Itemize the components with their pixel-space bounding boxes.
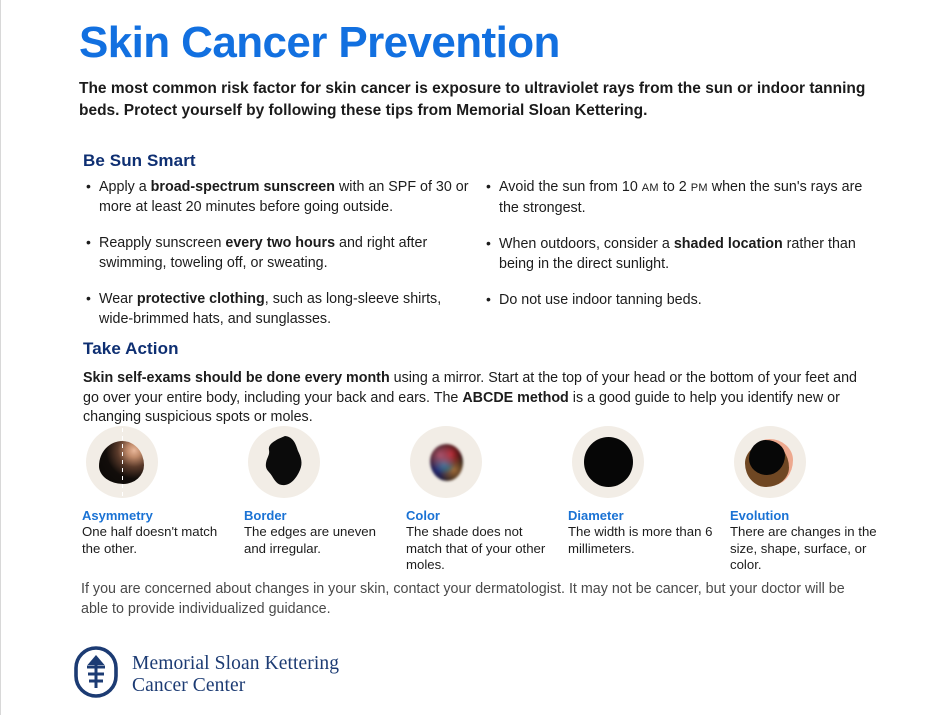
abcde-label-border: Border [244,508,399,524]
intro-paragraph: The most common risk factor for skin can… [79,78,869,122]
abcde-item-evolution: EvolutionThere are changes in the size, … [727,426,885,574]
abcde-description-asymmetry: One half doesn't match the other. [82,524,237,557]
bullet-item: Do not use indoor tanning beds. [485,291,877,311]
bullet-item: Apply a broad-spectrum sunscreen with an… [85,178,477,217]
take-action-paragraph: Skin self-exams should be done every mon… [83,369,861,428]
section-heading-take-action: Take Action [83,339,179,359]
asymmetry-divider-line [122,428,124,496]
abcde-item-diameter: DiameterThe width is more than 6 millime… [565,426,723,557]
msk-logo: Memorial Sloan Kettering Cancer Center [73,645,339,704]
mole-art-color [430,444,463,481]
abcde-label-diameter: Diameter [568,508,723,524]
mole-art-border [248,426,320,498]
section-heading-be-sun-smart: Be Sun Smart [83,151,196,171]
bullet-list-right: Avoid the sun from 10 AM to 2 PM when th… [485,178,877,328]
abcde-circle-border [248,426,320,498]
abcde-item-border: BorderThe edges are uneven and irregular… [241,426,399,557]
abcde-circle-evolution [734,426,806,498]
abcde-circle-color [410,426,482,498]
bullet-item: When outdoors, consider a shaded locatio… [485,235,877,274]
abcde-label-color: Color [406,508,561,524]
abcde-label-evolution: Evolution [730,508,885,524]
mole-art-diameter [584,437,633,487]
abcde-list: AsymmetryOne half doesn't match the othe… [79,426,909,576]
abcde-label-asymmetry: Asymmetry [82,508,237,524]
abcde-item-color: ColorThe shade does not match that of yo… [403,426,561,574]
abcde-description-border: The edges are uneven and irregular. [244,524,399,557]
msk-emblem-icon [73,645,119,704]
msk-wordmark-line1: Memorial Sloan Kettering [132,653,339,674]
page-title: Skin Cancer Prevention [79,18,560,68]
bullet-item: Wear protective clothing, such as long-s… [85,290,477,329]
infographic-page: Skin Cancer Prevention The most common r… [0,0,935,715]
abcde-circle-asymmetry [86,426,158,498]
abcde-circle-diameter [572,426,644,498]
abcde-description-diameter: The width is more than 6 millimeters. [568,524,723,557]
abcde-description-color: The shade does not match that of your ot… [406,524,561,574]
bullet-item: Reapply sunscreen every two hours and ri… [85,234,477,273]
msk-wordmark-line2: Cancer Center [132,675,245,696]
msk-wordmark: Memorial Sloan Kettering Cancer Center [132,653,339,697]
bullet-item: Avoid the sun from 10 AM to 2 PM when th… [485,178,877,218]
abcde-description-evolution: There are changes in the size, shape, su… [730,524,885,574]
footer-note: If you are concerned about changes in yo… [81,580,871,619]
bullet-list-left: Apply a broad-spectrum sunscreen with an… [85,178,477,346]
abcde-item-asymmetry: AsymmetryOne half doesn't match the othe… [79,426,237,557]
